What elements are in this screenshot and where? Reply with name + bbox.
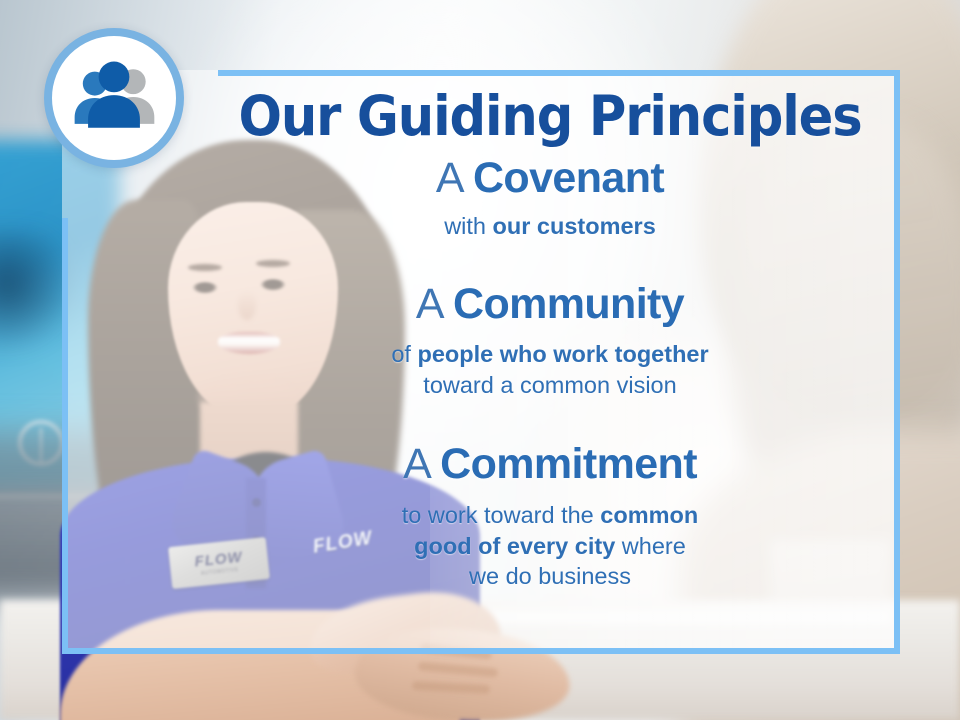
page-title: Our Guiding Principles [225,88,876,144]
principle-block-covenant: A Covenant with our customers [200,154,900,242]
principle-heading-community: A Community [200,280,900,328]
principle-heading-covenant: A Covenant [200,154,900,202]
sub-3-bold-a: common [600,502,698,528]
people-group-icon-badge [44,28,184,168]
sub-3-plain-a: to work toward the [402,502,601,528]
principle-word-3: Commitment [440,440,697,488]
principle-word-1: Covenant [473,154,664,202]
principle-block-community: A Community of people who work together … [200,280,900,400]
principle-lead-2: A [416,280,442,328]
sub-2-plain: of [391,341,417,367]
principle-sub-community: of people who work together toward a com… [200,339,900,400]
principle-block-commitment: A Commitment to work toward the common g… [200,440,900,592]
photo-hands [300,585,630,720]
sub-2-line2: toward a common vision [200,370,900,401]
poster-canvas: FLOW AUTOMOTIVE FLOW [0,0,960,720]
principle-heading-commitment: A Commitment [200,440,900,488]
principles-copy: Our Guiding Principles A Covenant with o… [200,88,900,592]
principle-lead-3: A [403,440,429,488]
sub-3-line2: good of every city where [200,531,900,562]
sub-3-line1: to work toward the common [200,500,900,531]
sub-1-bold: our customers [493,213,656,239]
principle-sub-commitment: to work toward the common good of every … [200,500,900,592]
sub-3-bold-b: good of every city [414,533,615,559]
sub-1-plain: with [444,213,492,239]
sub-2-bold: people who work together [417,341,708,367]
photo-display-shadow [0,230,80,350]
people-group-icon [66,50,162,146]
principle-lead-1: A [436,154,462,202]
principle-sub-covenant: with our customers [200,211,900,242]
sub-2-line1: of people who work together [200,339,900,370]
sub-3-line3: we do business [200,561,900,592]
principle-word-2: Community [453,280,684,328]
sub-3-plain-b: where [615,533,686,559]
